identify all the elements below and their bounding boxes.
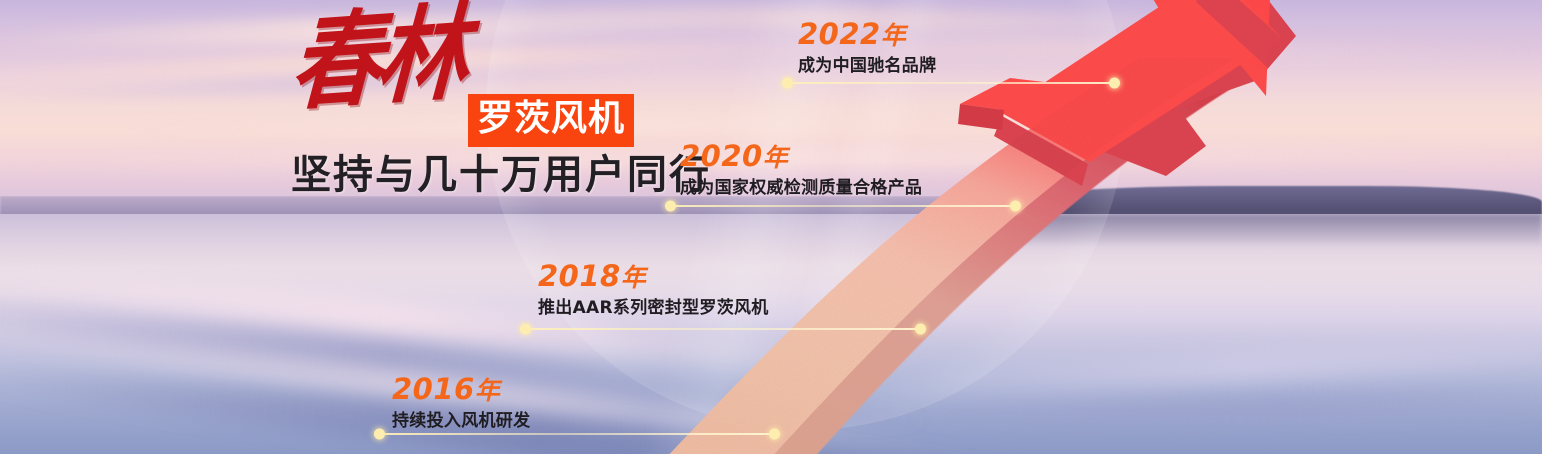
milestone-2016: 2016年 持续投入风机研发 xyxy=(392,375,530,430)
product-badge: 罗茨风机 xyxy=(468,94,634,147)
milestone-year-value: 2022 xyxy=(798,17,881,51)
milestone-year-value: 2018 xyxy=(538,259,621,293)
milestone-year-value: 2016 xyxy=(392,372,475,406)
promo-banner: 春林 罗茨风机 坚持与几十万用户同行 2022年 成为中国驰名品牌 2020年 … xyxy=(0,0,1542,454)
milestone-desc: 成为中国驰名品牌 xyxy=(798,58,936,75)
milestone-2020: 2020年 成为国家权威检测质量合格产品 xyxy=(680,142,922,197)
milestone-desc: 推出AAR系列密封型罗茨风机 xyxy=(538,300,769,317)
milestone-year-suffix: 年 xyxy=(763,143,789,172)
milestone-desc: 成为国家权威检测质量合格产品 xyxy=(680,180,922,197)
milestone-year: 2016年 xyxy=(392,375,530,404)
milestone-year: 2022年 xyxy=(798,20,936,49)
milestone-year: 2018年 xyxy=(538,262,769,291)
milestone-year-suffix: 年 xyxy=(621,263,647,292)
milestone-desc: 持续投入风机研发 xyxy=(392,413,530,430)
milestone-year-value: 2020 xyxy=(680,139,763,173)
milestone-year: 2020年 xyxy=(680,142,922,171)
growth-arrow xyxy=(0,0,1542,454)
milestone-2018: 2018年 推出AAR系列密封型罗茨风机 xyxy=(538,262,769,317)
brand-calligraphy: 春林 xyxy=(288,0,465,116)
milestone-2022: 2022年 成为中国驰名品牌 xyxy=(798,20,936,75)
milestone-year-suffix: 年 xyxy=(475,376,501,405)
brand-slogan: 坚持与几十万用户同行 xyxy=(291,154,711,196)
milestone-year-suffix: 年 xyxy=(881,21,907,50)
